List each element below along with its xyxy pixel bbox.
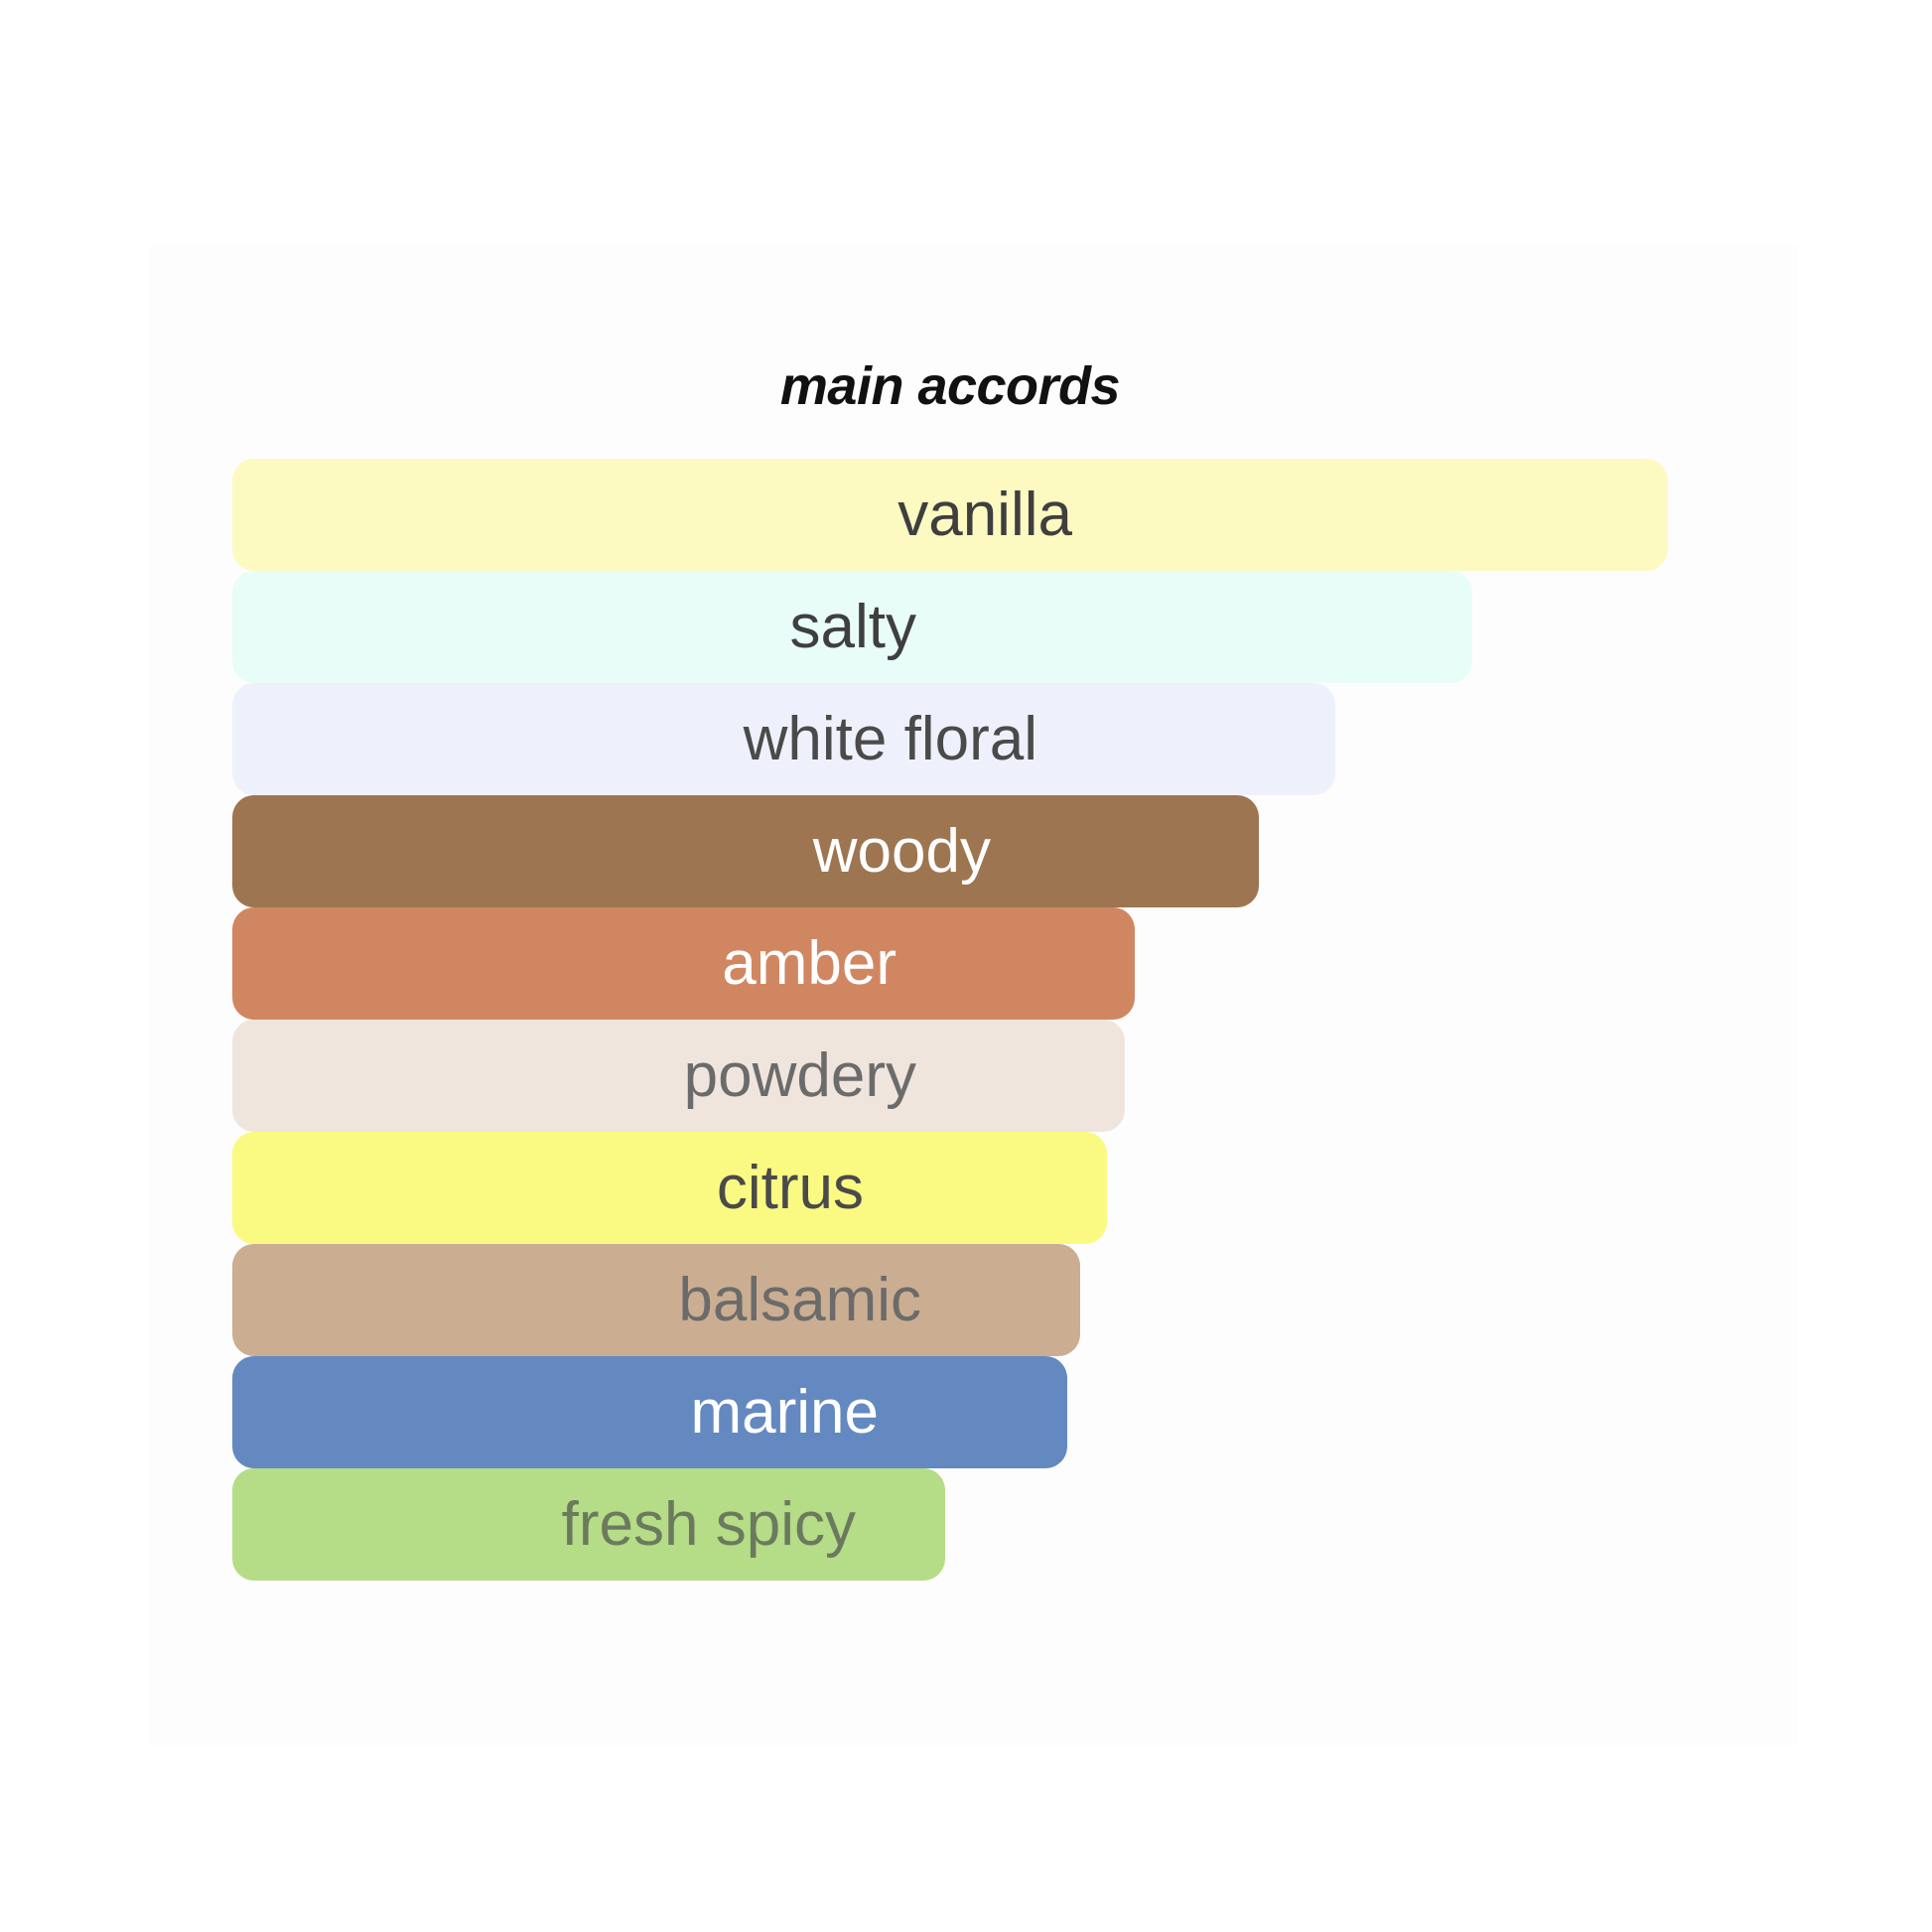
accord-bar-row[interactable]: vanilla (232, 459, 1722, 571)
accord-bar-row[interactable]: salty (232, 571, 1722, 683)
accord-bar-label: balsamic (678, 1270, 921, 1331)
accord-bar[interactable]: salty (232, 571, 1472, 683)
main-accords-widget: main accords vanillasaltywhite floralwoo… (0, 0, 1932, 1932)
accord-bar-label: marine (690, 1382, 879, 1444)
accord-bar-label: vanilla (897, 484, 1072, 546)
accord-bar[interactable]: amber (232, 907, 1135, 1020)
accord-bar-row[interactable]: white floral (232, 683, 1722, 795)
accord-bar[interactable]: vanilla (232, 459, 1668, 571)
accord-bar-label: salty (790, 597, 916, 658)
chart-title: main accords (232, 355, 1668, 417)
accord-bar-row[interactable]: balsamic (232, 1244, 1722, 1356)
accord-bar[interactable]: powdery (232, 1020, 1125, 1132)
accord-bar[interactable]: fresh spicy (232, 1468, 945, 1581)
accord-bar[interactable]: white floral (232, 683, 1335, 795)
accord-bar-label: woody (813, 821, 991, 883)
accord-bar-label: white floral (744, 709, 1037, 770)
accord-bar[interactable]: marine (232, 1356, 1067, 1468)
accord-bar-row[interactable]: woody (232, 795, 1722, 907)
accord-bar-label: amber (722, 933, 897, 995)
accord-bar-label: citrus (717, 1158, 864, 1219)
accord-bar-label: powdery (684, 1045, 916, 1107)
accord-bar-row[interactable]: marine (232, 1356, 1722, 1468)
accord-bar-label: fresh spicy (562, 1494, 856, 1556)
accord-bar[interactable]: balsamic (232, 1244, 1080, 1356)
accord-bar-row[interactable]: citrus (232, 1132, 1722, 1244)
accord-bar-row[interactable]: fresh spicy (232, 1468, 1722, 1581)
accord-bar[interactable]: citrus (232, 1132, 1107, 1244)
accord-bar-row[interactable]: amber (232, 907, 1722, 1020)
accord-bar-row[interactable]: powdery (232, 1020, 1722, 1132)
accord-bar[interactable]: woody (232, 795, 1259, 907)
accord-bar-list: vanillasaltywhite floralwoodyamberpowder… (232, 459, 1722, 1581)
